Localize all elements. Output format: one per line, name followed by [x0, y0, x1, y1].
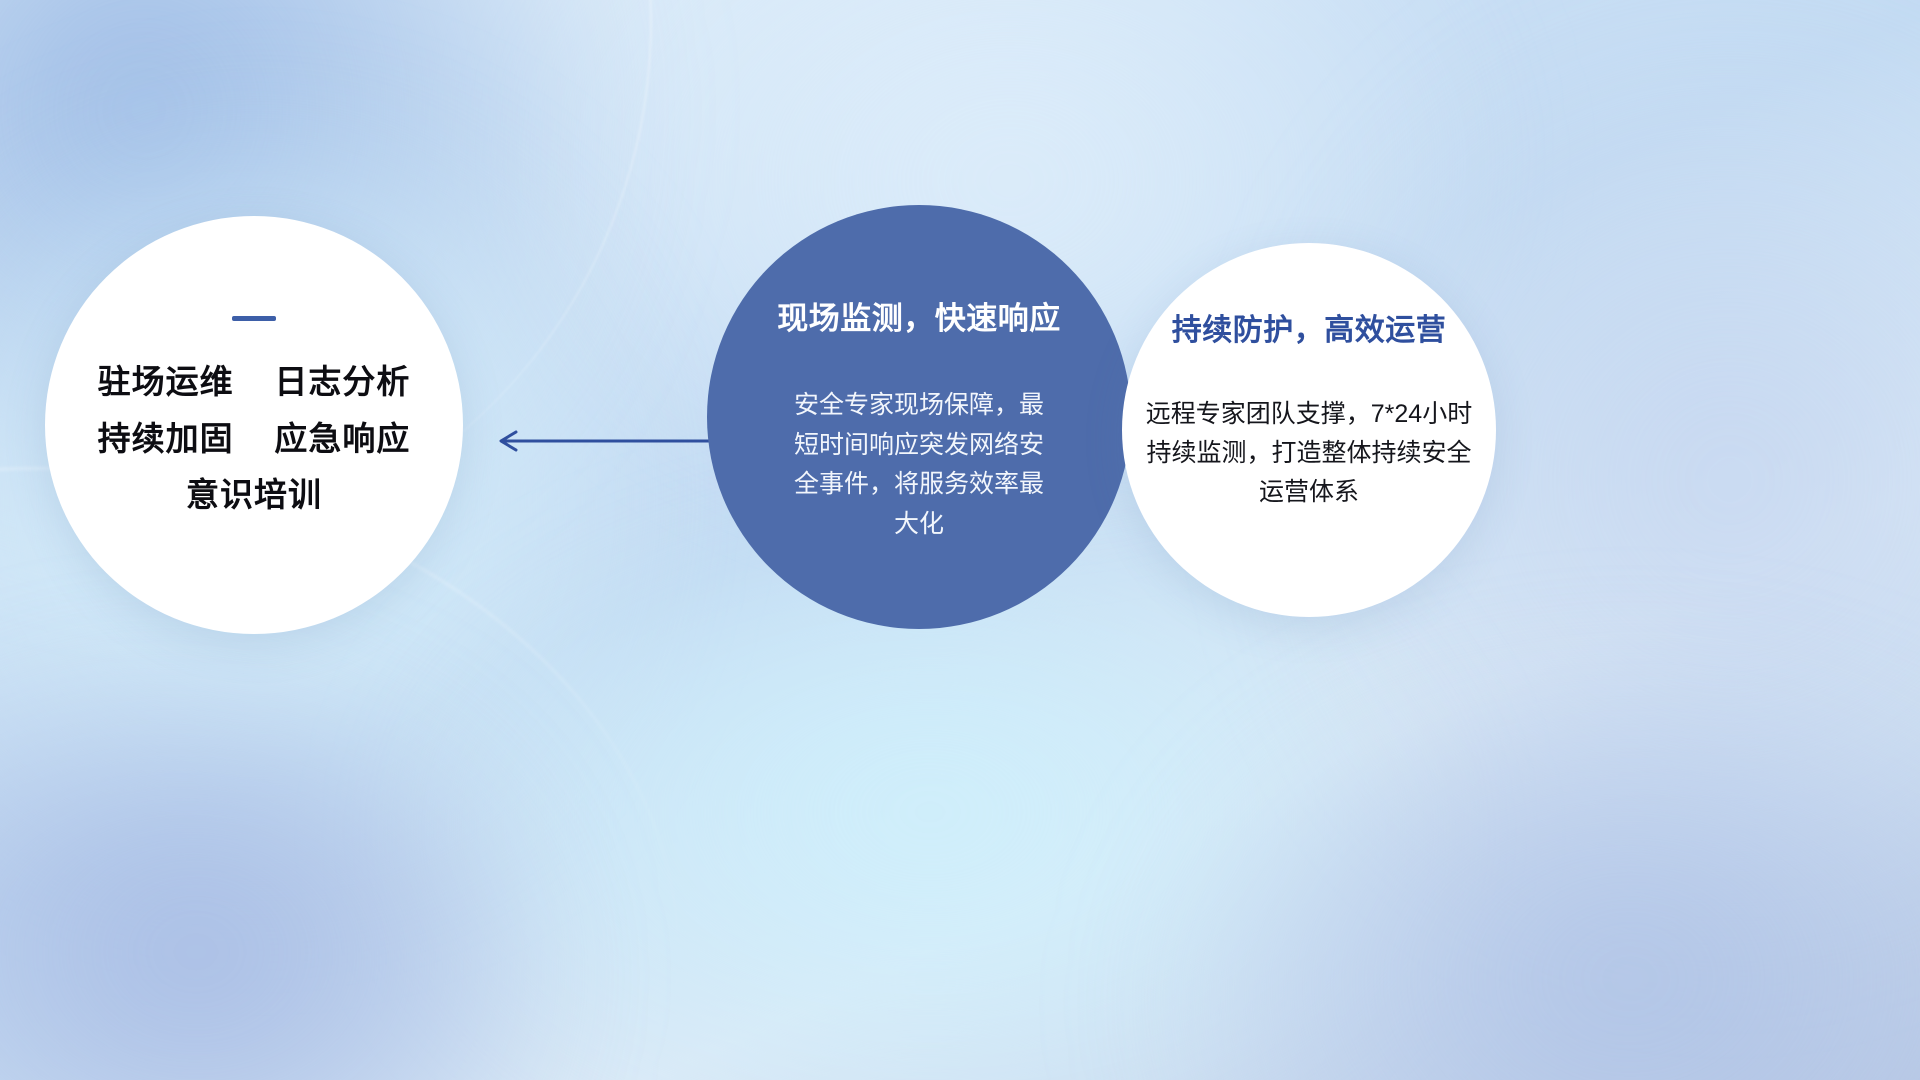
right-circle-body: 远程专家团队支撑，7*24小时持续监测，打造整体持续安全运营体系 — [1144, 395, 1474, 512]
arrow-left-icon — [490, 424, 720, 458]
feature-circle-middle[interactable]: 现场监测，快速响应 安全专家现场保障，最短时间响应突发网络安全事件，将服务效率最… — [707, 205, 1131, 629]
capability-line-2: 持续加固 应急响应 — [98, 422, 411, 457]
feature-circle-right[interactable]: 持续防护，高效运营 远程专家团队支撑，7*24小时持续监测，打造整体持续安全运营… — [1122, 243, 1496, 617]
right-circle-title: 持续防护，高效运营 — [1172, 305, 1447, 349]
middle-circle-body: 安全专家现场保障，最短时间响应突发网络安全事件，将服务效率最大化 — [783, 386, 1055, 544]
middle-circle-title: 现场监测，快速响应 — [777, 293, 1061, 338]
capability-list: 驻场运维 日志分析 持续加固 应急响应 意识培训 — [98, 365, 411, 513]
flow-arrow — [490, 424, 720, 458]
capability-line-3: 意识培训 — [186, 478, 322, 513]
capability-line-1: 驻场运维 日志分析 — [98, 365, 411, 400]
slide-canvas: 驻场运维 日志分析 持续加固 应急响应 意识培训 现场监测，快速响应 安全专家现… — [0, 0, 1920, 1080]
dash-decoration-icon — [232, 316, 276, 321]
capability-circle-left[interactable]: 驻场运维 日志分析 持续加固 应急响应 意识培训 — [45, 216, 463, 634]
